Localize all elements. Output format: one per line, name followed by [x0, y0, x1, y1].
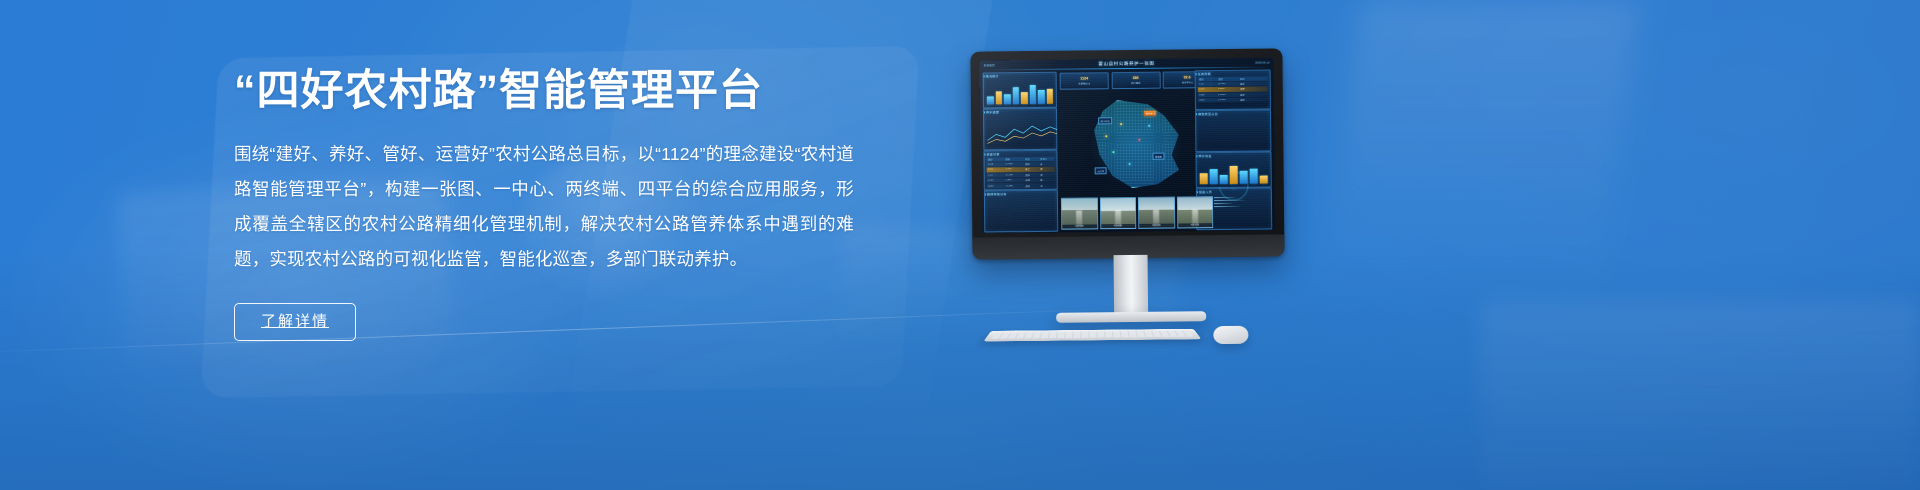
panel-road-grade-distribution[interactable]: 路网等级分布 ▲ 一级 二级 三级 四级 等外 — [984, 190, 1058, 233]
cell: 李 — [1040, 167, 1053, 171]
task-table: 路段 里程 状态 Y117 22.1km 良好 C205 — [1198, 76, 1268, 104]
panel-road-condition[interactable]: 路况统计 — [983, 72, 1057, 109]
page-title: “四好农村路”智能管理平台 — [234, 66, 854, 117]
monitor-mockup: 霍山县村公路养护一张图 系统首页 2023-06-15 1124 总里程(km)… — [958, 48, 1301, 362]
dashboard-corner-left[interactable]: 系统首页 — [984, 63, 995, 67]
cell: 张 — [1040, 173, 1053, 177]
kpi-card[interactable]: 386 养护路段 — [1111, 72, 1160, 90]
panel-inspection-log[interactable]: 巡查记录 路段 里程 状态 负责人 S318 12.4km — [983, 150, 1057, 191]
cell: 王 — [1040, 162, 1053, 166]
kpi-label: 优良率(%) — [1182, 80, 1193, 84]
cell: 刘 — [1040, 183, 1053, 187]
kpi-label: 养护路段 — [1131, 81, 1141, 85]
monitor-stand-neck — [1114, 255, 1149, 317]
cell: C205 — [1199, 89, 1217, 91]
cell: 待养 — [1240, 87, 1255, 91]
table-row[interactable]: S318 12.4km 良好 — [1198, 98, 1268, 103]
cell: 5.3km — [1218, 88, 1238, 90]
table-row[interactable]: X088 16.9km 良好 — [1198, 92, 1268, 97]
gis-map[interactable]: 养护中 3 佛子岭镇 大化坪 诸佛庵 — [1060, 90, 1213, 196]
mouse — [1213, 326, 1248, 344]
cell: 5.3km — [1005, 179, 1023, 181]
kpi-row: 1124 总里程(km) 386 养护路段 92.6 优良率(%) — [1060, 71, 1212, 90]
panel-maintenance-progress[interactable]: 养护进度 — [983, 108, 1057, 151]
panel-title: 养护进度 — [986, 110, 999, 114]
monitor-stand-foot — [1056, 311, 1206, 323]
table-row[interactable]: C205 5.3km 待养 陈 — [987, 178, 1055, 183]
panel-title: 任务列表 — [1198, 72, 1211, 76]
video-thumbnail[interactable]: K18+050 — [1099, 197, 1136, 229]
table-row[interactable]: X042 8.7km 施工 李 — [987, 167, 1055, 172]
table-row[interactable]: S318 12.4km 良好 王 — [987, 162, 1055, 167]
cell: 8.7km — [1005, 169, 1023, 171]
cell: 16.9km — [1218, 94, 1238, 96]
cell: Y117 — [1199, 83, 1217, 85]
panel-title: 路况统计 — [986, 74, 999, 78]
dashboard: 霍山县村公路养护一张图 系统首页 2023-06-15 1124 总里程(km)… — [979, 57, 1275, 233]
panel-title: 巡查人员 — [1199, 190, 1212, 194]
cell: S318 — [1199, 99, 1217, 101]
kpi-value: 92.6 — [1184, 76, 1191, 80]
cell: X088 — [1199, 94, 1217, 96]
kpi-value: 1124 — [1080, 77, 1088, 81]
column-header: 路段 — [1199, 77, 1217, 81]
video-monitor-strip: K12+300 K18+050 K24+700 K31+120 — [1061, 196, 1213, 230]
column-header: 状态 — [1025, 157, 1038, 161]
panel-title: 养护资金 — [1198, 154, 1211, 158]
learn-more-button[interactable]: 了解详情 — [234, 303, 356, 341]
column-header: 路段 — [988, 157, 1004, 161]
bar-chart — [987, 82, 1053, 105]
cell: 良好 — [1025, 162, 1038, 166]
table-row[interactable]: Y117 22.1km 良好 张 — [987, 172, 1055, 177]
monitor-bezel: 霍山县村公路养护一张图 系统首页 2023-06-15 1124 总里程(km)… — [970, 48, 1284, 259]
cell: 22.1km — [1218, 83, 1238, 85]
cell: 施工 — [1025, 167, 1038, 171]
cell: Y117 — [988, 174, 1004, 176]
column-header: 里程 — [1005, 157, 1023, 161]
cell: 待养 — [1025, 178, 1038, 182]
table-header-row: 路段 里程 状态 — [1198, 76, 1268, 81]
panel-title: 路网等级分布 — [987, 192, 1007, 196]
video-caption: K12+300 — [1062, 224, 1097, 228]
kpi-value: 386 — [1133, 76, 1139, 80]
column-header: 里程 — [1218, 77, 1238, 81]
map-label-town[interactable]: 佛子岭镇 — [1098, 117, 1112, 124]
table-row[interactable]: Y117 22.1km 良好 — [1198, 81, 1268, 86]
cell: 12.4km — [1005, 163, 1023, 165]
cell: 12.4km — [1218, 99, 1238, 101]
video-thumbnail[interactable]: K31+120 — [1176, 196, 1213, 228]
video-thumbnail[interactable]: K24+700 — [1138, 197, 1175, 229]
column-header: 状态 — [1240, 76, 1255, 80]
cell: X088 — [988, 185, 1004, 187]
cell: C205 — [988, 180, 1004, 182]
cell: 良好 — [1240, 98, 1255, 102]
cell: 良好 — [1240, 93, 1255, 97]
column-header: 负责人 — [1040, 156, 1053, 160]
dashboard-corner-right: 2023-06-15 — [1255, 60, 1269, 64]
video-thumbnail[interactable]: K12+300 — [1061, 197, 1098, 229]
map-label-town[interactable]: 大化坪 — [1095, 167, 1107, 174]
video-caption: K31+120 — [1178, 223, 1213, 227]
panel-title: 病害类型占比 — [1198, 112, 1218, 116]
kpi-label: 总里程(km) — [1078, 81, 1090, 85]
cell: 22.1km — [1005, 174, 1023, 176]
video-caption: K18+050 — [1101, 224, 1136, 228]
cell: 良好 — [1240, 82, 1255, 86]
cell: S318 — [988, 163, 1004, 165]
hero-banner: “四好农村路”智能管理平台 围绕“建好、养好、管好、运营好”农村公路总目标，以“… — [0, 0, 1920, 490]
panel-task-list[interactable]: 任务列表 路段 里程 状态 Y117 22.1km 良好 — [1195, 70, 1271, 111]
monitor-screen: 霍山县村公路养护一张图 系统首页 2023-06-15 1124 总里程(km)… — [979, 57, 1275, 233]
inspection-table: 路段 里程 状态 负责人 S318 12.4km 良好 王 — [986, 156, 1054, 189]
hero-copy-block: “四好农村路”智能管理平台 围绕“建好、养好、管好、运营好”农村公路总目标，以“… — [234, 66, 854, 341]
map-callout-primary[interactable]: 养护中 3 — [1144, 111, 1156, 116]
cell: 16.9km — [1005, 185, 1023, 187]
video-caption: K24+700 — [1139, 224, 1174, 228]
kpi-card[interactable]: 1124 总里程(km) — [1060, 72, 1109, 90]
table-header-row: 路段 里程 状态 负责人 — [986, 156, 1054, 161]
cell: 陈 — [1040, 178, 1053, 182]
map-label-town[interactable]: 诸佛庵 — [1152, 153, 1164, 160]
bar-chart — [1200, 162, 1268, 185]
panel-funding[interactable]: 养护资金 — [1195, 152, 1271, 189]
inspector-details — [1214, 197, 1244, 207]
table-row[interactable]: X088 16.9km 良好 刘 — [987, 183, 1055, 188]
hero-description: 围绕“建好、养好、管好、运营好”农村公路总目标，以“1124”的理念建设“农村道… — [234, 137, 854, 277]
cell: X042 — [988, 169, 1004, 171]
keyboard — [983, 329, 1201, 342]
line-chart — [987, 122, 1057, 147]
cell: 良好 — [1025, 184, 1038, 188]
table-row[interactable]: C205 5.3km 待养 — [1198, 87, 1268, 92]
panel-defect-ratio[interactable]: 病害类型占比 234 在建 — [1195, 110, 1271, 153]
cell: 良好 — [1025, 173, 1038, 177]
